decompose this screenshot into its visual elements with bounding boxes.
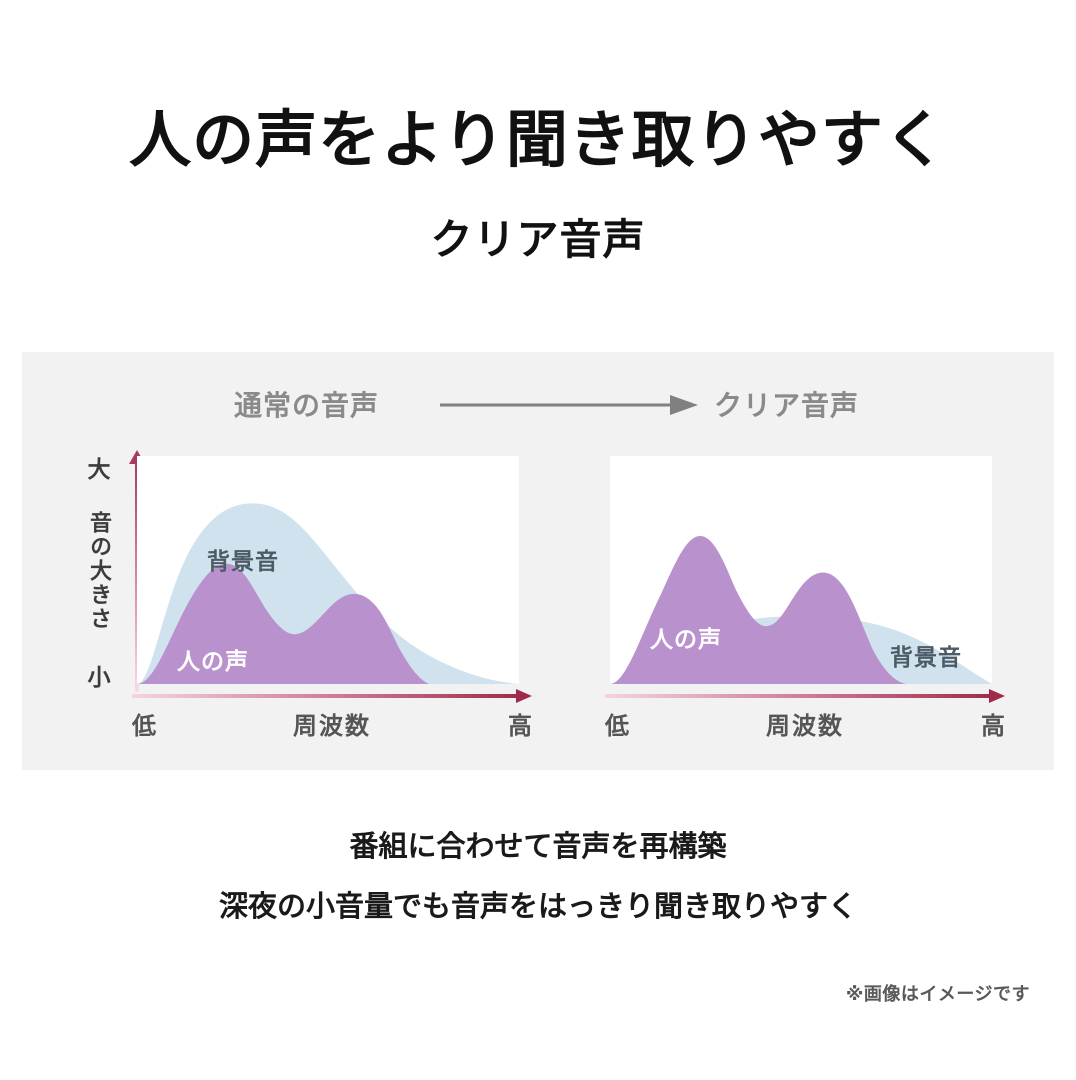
footer-line-1: 番組に合わせて音声を再構築 xyxy=(0,832,1076,864)
x-axis-after: 低 周波数 高 xyxy=(605,688,1005,750)
x-axis-before: 低 周波数 高 xyxy=(132,688,532,750)
y-axis-title: 音の大きさ xyxy=(88,511,110,631)
y-axis-labels: 大 音の大きさ 小 xyxy=(76,450,122,692)
x-axis-low-label: 低 xyxy=(605,706,629,741)
footer-line-2: 深夜の小音量でも音声をはっきり聞き取りやすく xyxy=(0,892,1076,924)
headline-block: 人の声をより聞き取りやすく クリア音声 xyxy=(0,108,1076,263)
x-axis-high-label: 高 xyxy=(981,706,1005,741)
diagram-panel: 通常の音声 クリア音声 大 音の大きさ 小 xyxy=(22,352,1054,770)
chart-after: 人の声 背景音 xyxy=(610,456,992,684)
y-axis-top-label: 大 xyxy=(88,450,111,484)
panel-header: 通常の音声 クリア音声 xyxy=(22,384,1054,424)
x-axis-title: 周波数 xyxy=(293,706,371,741)
after-label: クリア音声 xyxy=(714,384,859,424)
right-arrow-icon xyxy=(440,394,700,416)
x-axis-low-label: 低 xyxy=(132,706,156,741)
disclaimer-note: ※画像はイメージです xyxy=(846,980,1030,1006)
x-axis-labels: 低 周波数 高 xyxy=(605,706,1005,741)
chart-before: 背景音 人の声 xyxy=(137,456,519,684)
before-label: 通常の音声 xyxy=(234,384,379,424)
page-subtitle: クリア音声 xyxy=(0,217,1076,263)
right-arrow-icon xyxy=(605,688,1005,704)
footer-copy: 番組に合わせて音声を再構築 深夜の小音量でも音声をはっきり聞き取りやすく xyxy=(0,832,1076,924)
series-voice-area xyxy=(610,536,906,684)
right-arrow-icon xyxy=(132,688,532,704)
x-axis-labels: 低 周波数 高 xyxy=(132,706,532,741)
page-title: 人の声をより聞き取りやすく xyxy=(0,108,1076,173)
y-axis-bottom-label: 小 xyxy=(88,658,111,692)
x-axis-title: 周波数 xyxy=(766,706,844,741)
x-axis-high-label: 高 xyxy=(508,706,532,741)
